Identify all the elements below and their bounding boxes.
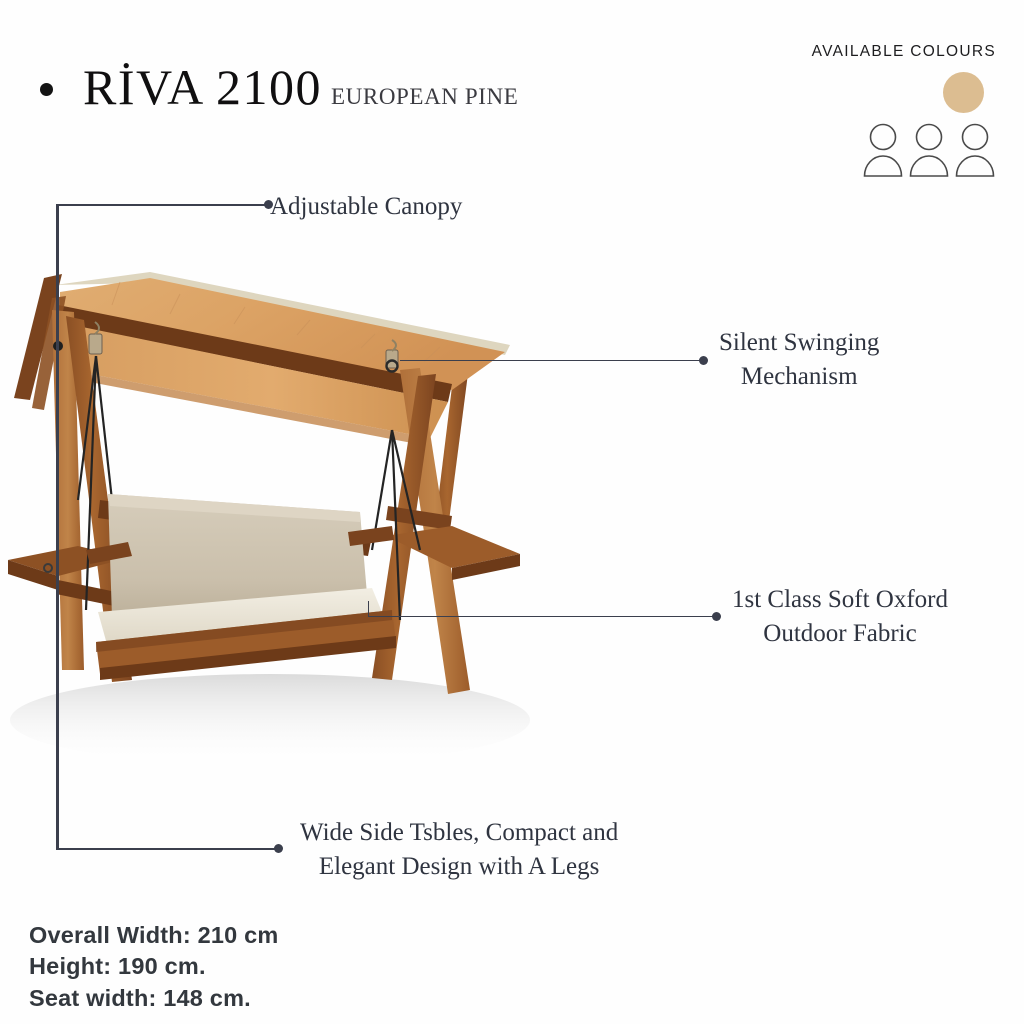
available-colours-block: AVAILABLE COLOURS: [812, 43, 996, 178]
dimensions-block: Overall Width: 210 cm Height: 190 cm. Se…: [29, 920, 279, 1014]
available-colours-label: AVAILABLE COLOURS: [812, 43, 996, 61]
leader-line-left-vertical: [56, 204, 59, 850]
leader-dot-fabric: [712, 612, 721, 621]
colour-swatch-row: [812, 72, 996, 113]
person-icon: [954, 122, 996, 178]
model-name: RİVA 2100: [83, 62, 322, 112]
leader-line-fabric-vertical: [368, 601, 369, 617]
person-icon: [862, 122, 904, 178]
page-title: RİVA 2100 EUROPEAN PINE: [40, 62, 518, 112]
product-infographic-page: RİVA 2100 EUROPEAN PINE AVAILABLE COLOUR…: [0, 0, 1024, 1024]
callout-label-oxford-fabric: 1st Class Soft Oxford Outdoor Fabric: [732, 583, 948, 651]
leader-line-sidetables-horizontal: [56, 848, 278, 851]
leader-line-canopy-horizontal: [56, 204, 268, 207]
dimension-height: Height: 190 cm.: [29, 951, 279, 982]
bullet-dot-icon: [40, 83, 53, 96]
leader-line-fabric: [368, 616, 716, 617]
material-name: EUROPEAN PINE: [331, 84, 518, 110]
callout-label-silent-swinging-mechanism: Silent Swinging Mechanism: [719, 326, 879, 394]
callout-label-adjustable-canopy: Adjustable Canopy: [270, 190, 462, 224]
colour-swatch-natural-pine-tan[interactable]: [943, 72, 984, 113]
leader-dot-mechanism: [699, 356, 708, 365]
person-icon: [908, 122, 950, 178]
dimension-seat-width: Seat width: 148 cm.: [29, 983, 279, 1014]
leader-dot-sidetables: [274, 844, 283, 853]
seating-capacity-row: [812, 122, 996, 178]
callout-label-wide-side-tables: Wide Side Tsbles, Compact and Elegant De…: [300, 816, 618, 884]
leader-line-mechanism: [400, 360, 703, 361]
dimension-overall-width: Overall Width: 210 cm: [29, 920, 279, 951]
product-image-wooden-garden-swing: [0, 250, 560, 770]
